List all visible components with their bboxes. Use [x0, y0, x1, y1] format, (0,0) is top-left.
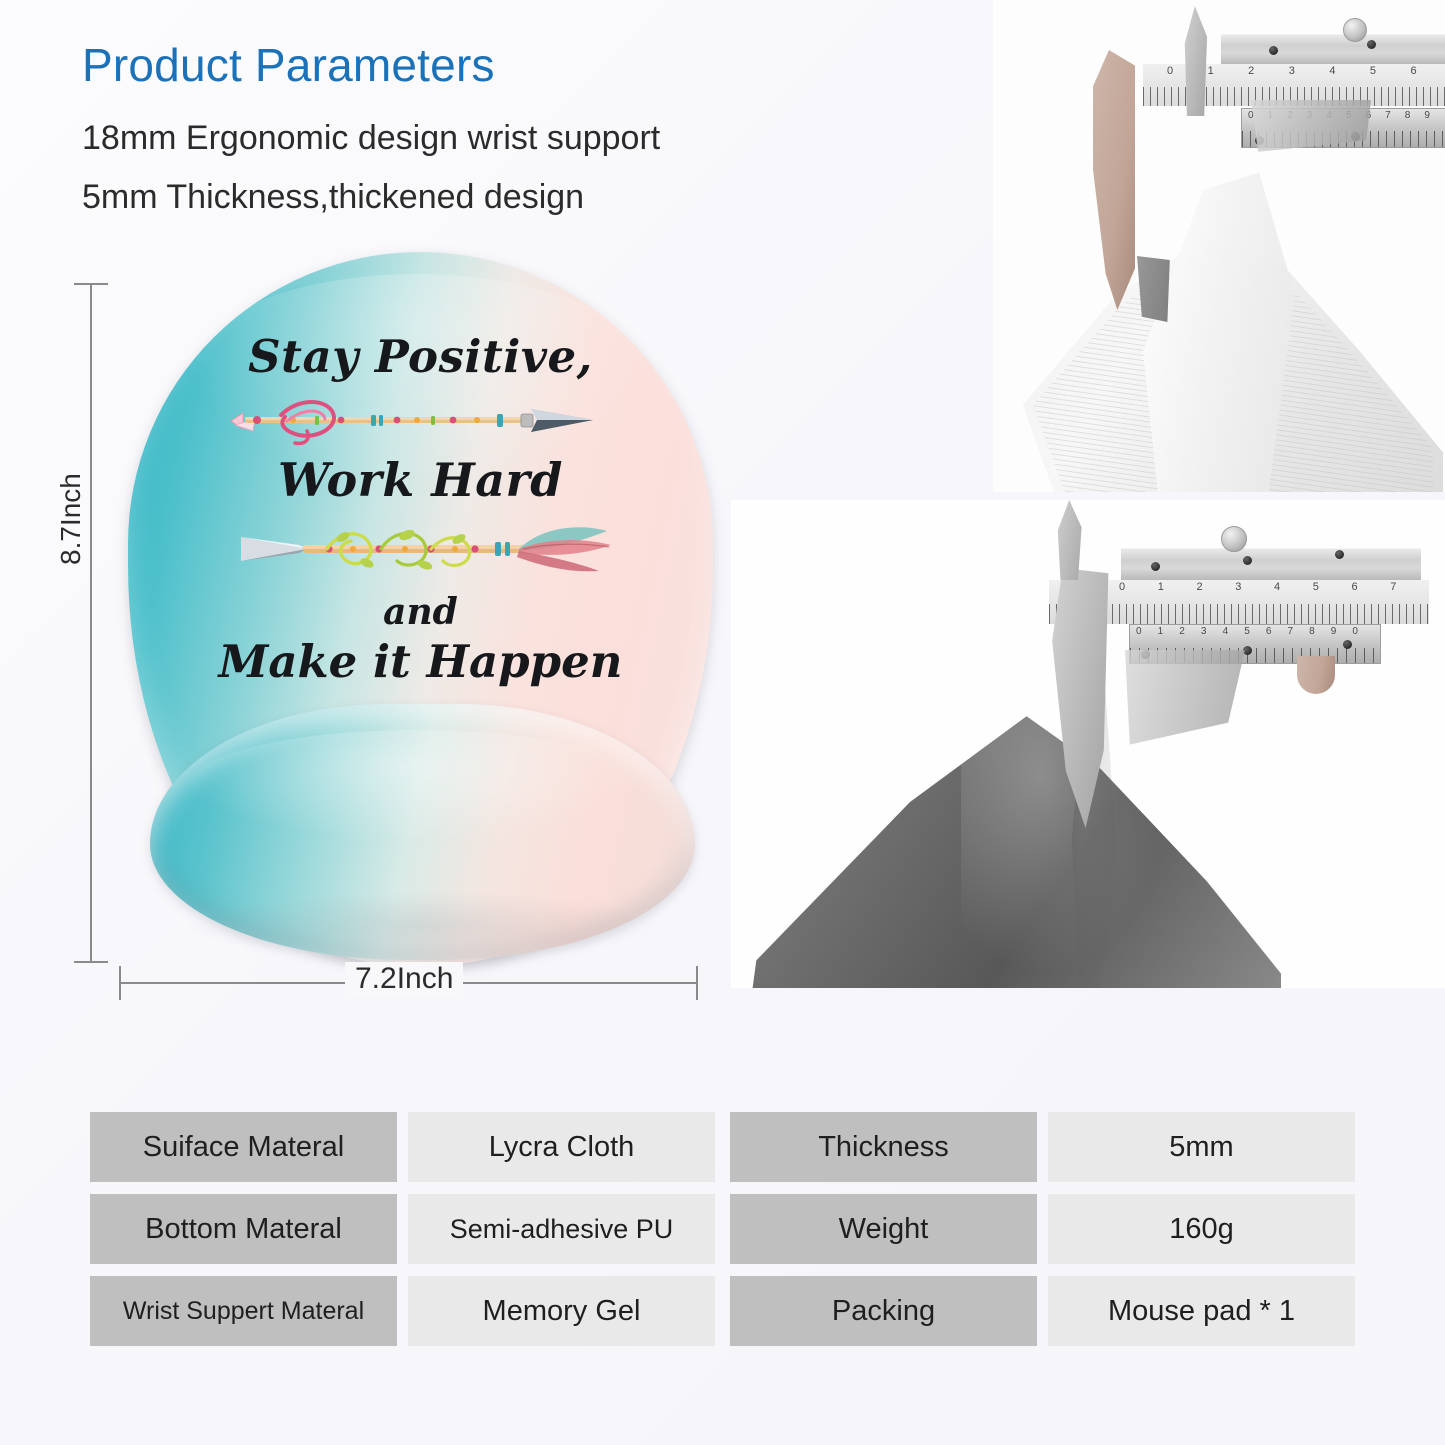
caliper-scale-numbers: 01234567 — [1119, 581, 1429, 593]
caliper-beam — [1221, 34, 1445, 66]
cell-gap — [1037, 1276, 1048, 1346]
table-row: Bottom Materal Semi-adhesive PU Weight 1… — [90, 1194, 1356, 1264]
height-dimension-line — [90, 283, 92, 963]
wrist-rest-highlight — [188, 730, 643, 842]
cell-gap — [715, 1194, 730, 1264]
height-dimension-cap-bottom — [74, 961, 108, 963]
caliper-rivet — [1269, 46, 1278, 55]
spec-label-wrist-support-material: Wrist Suppert Materal — [90, 1276, 397, 1346]
spec-label-thickness: Thickness — [730, 1112, 1037, 1182]
height-dimension-cap-top — [74, 283, 108, 285]
quote-line-3: and — [128, 591, 713, 633]
spec-value-bottom-material: Semi-adhesive PU — [408, 1194, 715, 1264]
photo-caliper-foam-thickness: 0123456 0123456789 — [993, 0, 1445, 492]
mouse-pad-bottom-shadow — [188, 892, 658, 958]
spec-label-bottom-material: Bottom Materal — [90, 1194, 397, 1264]
decorative-arrow-icon — [221, 391, 621, 447]
caliper-rivet — [1335, 550, 1344, 559]
feature-line-thickness: 5mm Thickness,thickened design — [82, 178, 584, 217]
caliper-rivet — [1367, 40, 1376, 49]
caliper-depth-tab — [1297, 656, 1335, 694]
spec-value-packing: Mouse pad * 1 — [1048, 1276, 1355, 1346]
caliper-rivet — [1343, 640, 1352, 649]
product-parameters-infographic: Product Parameters 18mm Ergonomic design… — [0, 0, 1445, 1445]
caliper-movable-jaw — [1251, 100, 1371, 170]
caliper-thumb-screw — [1221, 526, 1247, 552]
page-title: Product Parameters — [82, 38, 495, 92]
spec-label-packing: Packing — [730, 1276, 1037, 1346]
table-row: Wrist Suppert Materal Memory Gel Packing… — [90, 1276, 1356, 1346]
mouse-pad-quote-artwork: Stay Positive, — [128, 330, 713, 688]
cell-gap — [715, 1112, 730, 1182]
quote-line-1: Stay Positive, — [128, 330, 713, 383]
width-dimension-label: 7.2Inch — [345, 962, 463, 996]
caliper-rivet — [1243, 556, 1252, 565]
mouse-pad-product-image: Stay Positive, — [128, 252, 713, 964]
caliper-rivet — [1151, 562, 1160, 571]
cell-gap — [397, 1276, 408, 1346]
caliper-vernier-numbers: 01234567890 — [1136, 626, 1374, 637]
caliper-thumb-screw — [1343, 18, 1367, 42]
caliper-upper-jaw — [1049, 500, 1093, 580]
quote-line-2: Work Hard — [128, 453, 713, 507]
height-dimension-label: 8.7Inch — [55, 473, 87, 565]
decorative-arrow-feather-icon — [211, 515, 631, 585]
spec-label-weight: Weight — [730, 1194, 1037, 1264]
spec-label-surface-material: Suiface Materal — [90, 1112, 397, 1182]
cell-gap — [397, 1112, 408, 1182]
width-dimension-cap-left — [119, 966, 121, 1000]
spec-value-thickness: 5mm — [1048, 1112, 1355, 1182]
cell-gap — [1037, 1112, 1048, 1182]
caliper-beam — [1121, 548, 1421, 582]
table-row: Suiface Materal Lycra Cloth Thickness 5m… — [90, 1112, 1356, 1182]
quote-line-4: Make it Happen — [128, 635, 713, 688]
cell-gap — [397, 1194, 408, 1264]
photo-caliper-pu-thickness: 01234567 01234567890 — [731, 500, 1445, 988]
spec-value-weight: 160g — [1048, 1194, 1355, 1264]
cell-gap — [1037, 1194, 1048, 1264]
width-dimension-cap-right — [696, 966, 698, 1000]
caliper-fixed-jaw — [1093, 50, 1135, 310]
caliper-scale-numbers: 0123456 — [1167, 65, 1445, 77]
cell-gap — [715, 1276, 730, 1346]
spec-value-surface-material: Lycra Cloth — [408, 1112, 715, 1182]
specification-table: Suiface Materal Lycra Cloth Thickness 5m… — [90, 1112, 1356, 1358]
spec-value-wrist-support-material: Memory Gel — [408, 1276, 715, 1346]
feature-line-ergonomic: 18mm Ergonomic design wrist support — [82, 119, 660, 158]
